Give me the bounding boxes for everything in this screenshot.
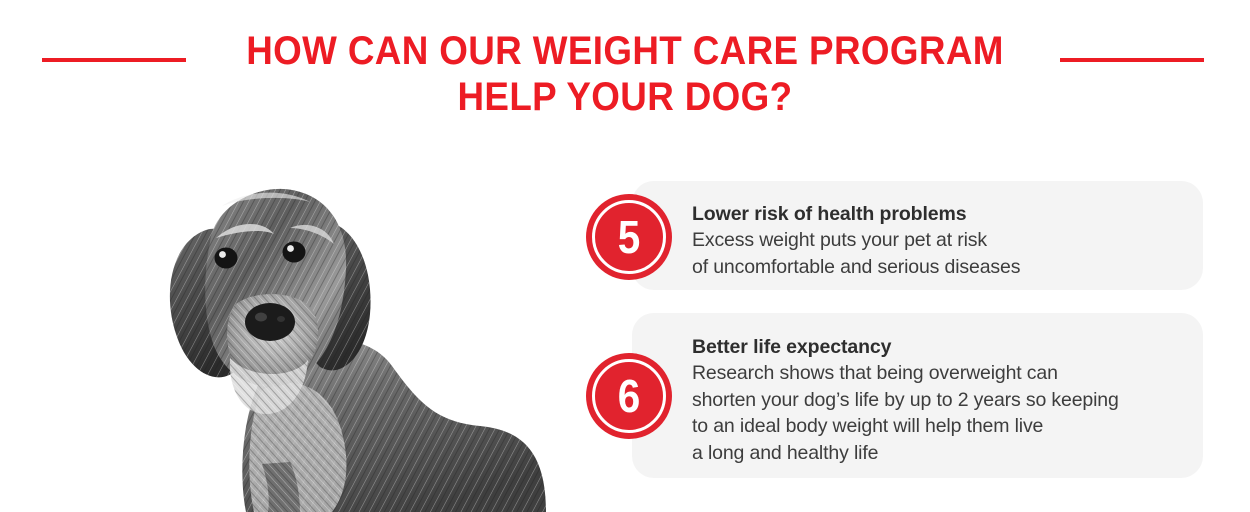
benefit-card-6-body-line-1: Research shows that being overweight can (692, 360, 1185, 387)
page-title-line-1: HOW CAN OUR WEIGHT CARE PROGRAM (50, 28, 1200, 74)
title-rule-right-decoration (1060, 58, 1204, 62)
page-title: HOW CAN OUR WEIGHT CARE PROGRAM HELP YOU… (0, 28, 1250, 120)
title-rule-left-decoration (42, 58, 186, 62)
dog-photo-illustration (150, 176, 546, 512)
benefit-card-5: Lower risk of health problems Excess wei… (632, 181, 1203, 290)
benefit-badge-6: 6 (586, 353, 672, 439)
benefit-card-5-body-line-1: Excess weight puts your pet at risk (692, 227, 1185, 254)
benefit-card-6-body-line-2: shorten your dog’s life by up to 2 years… (692, 387, 1185, 414)
benefit-card-6-body-line-4: a long and healthy life (692, 440, 1185, 467)
benefit-badge-6-number: 6 (591, 353, 667, 439)
benefit-badge-5-number: 5 (591, 194, 667, 280)
benefit-card-5-text: Lower risk of health problems Excess wei… (692, 201, 1185, 280)
dog-photo (150, 176, 546, 512)
page-title-line-2: HELP YOUR DOG? (50, 74, 1200, 120)
benefit-card-5-body-line-2: of uncomfortable and serious diseases (692, 254, 1185, 281)
benefit-badge-5: 5 (586, 194, 672, 280)
benefit-card-6-text: Better life expectancy Research shows th… (692, 334, 1185, 466)
benefit-card-5-heading: Lower risk of health problems (692, 201, 1185, 227)
infographic-root: HOW CAN OUR WEIGHT CARE PROGRAM HELP YOU… (0, 0, 1250, 512)
benefit-card-6-heading: Better life expectancy (692, 334, 1185, 360)
benefit-card-6: Better life expectancy Research shows th… (632, 313, 1203, 478)
benefit-card-6-body-line-3: to an ideal body weight will help them l… (692, 413, 1185, 440)
